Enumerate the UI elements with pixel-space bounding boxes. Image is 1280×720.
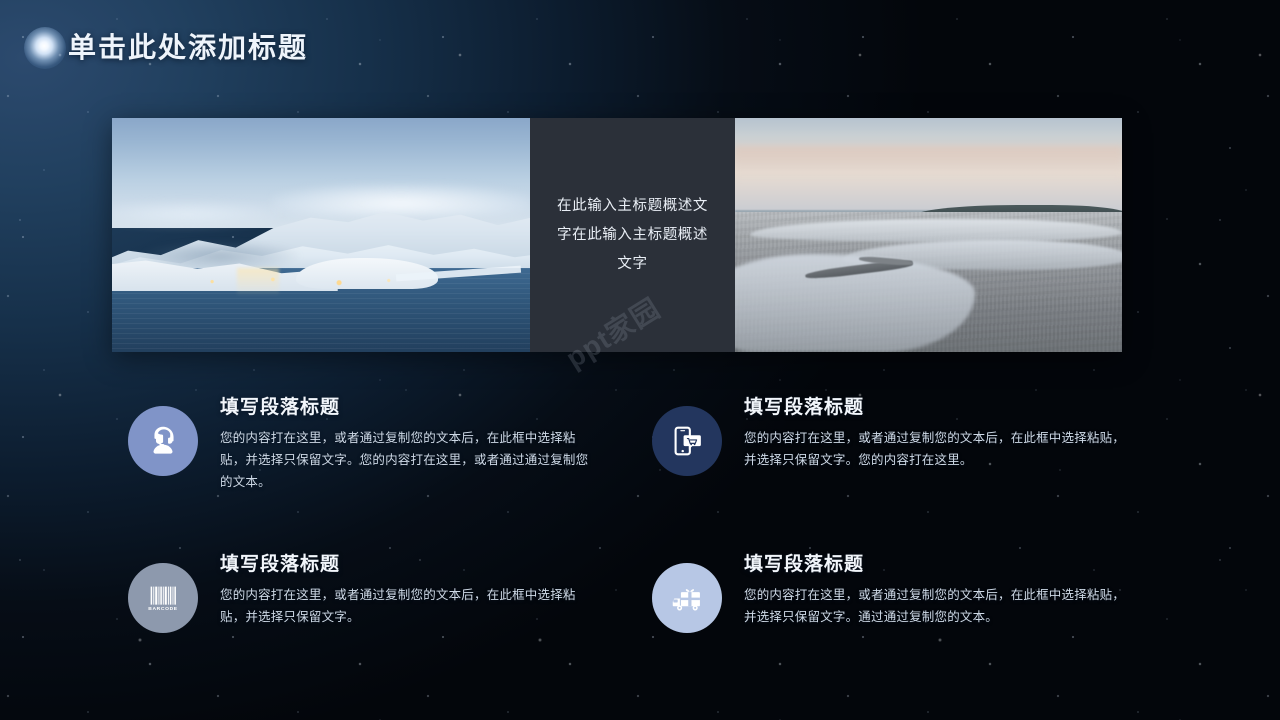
glowing-star-orb-icon	[24, 27, 66, 69]
feature-title: 填写段落标题	[744, 392, 1132, 419]
feature-title: 填写段落标题	[744, 549, 1132, 576]
hero-center-text: 在此输入主标题概述文字在此输入主标题概述文字	[553, 192, 713, 279]
hero-band: 在此输入主标题概述文字在此输入主标题概述文字	[112, 118, 1122, 352]
feature-text: 您的内容打在这里，或者通过复制您的文本后，在此框中选择粘贴，并选择只保留文字。您…	[220, 428, 600, 494]
feature-text: 您的内容打在这里，或者通过复制您的文本后，在此框中选择粘贴，并选择只保留文字。您…	[744, 428, 1132, 472]
slide-canvas: 单击此处添加标题 在此输入主标题概述文字在此输入主标题概述文字	[0, 0, 1280, 720]
svg-text:BARCODE: BARCODE	[148, 606, 178, 612]
snow-mountain-harbor-photo	[112, 118, 530, 352]
feature-item[interactable]: 填写段落标题 您的内容打在这里，或者通过复制您的文本后，在此框中选择粘贴，并选择…	[128, 392, 652, 549]
feature-item[interactable]: 填写段落标题 您的内容打在这里，或者通过复制您的文本后，在此框中选择粘贴，并选择…	[652, 392, 1138, 549]
feature-text: 您的内容打在这里，或者通过复制您的文本后，在此框中选择粘贴，并选择只保留文字。	[220, 585, 600, 629]
delivery-truck-gift-icon	[652, 563, 722, 633]
feature-text: 您的内容打在这里，或者通过复制您的文本后，在此框中选择粘贴，并选择只保留文字。通…	[744, 585, 1132, 629]
page-title: 单击此处添加标题	[68, 26, 308, 66]
barcode-icon: BARCODE	[128, 563, 198, 633]
feature-title: 填写段落标题	[220, 549, 600, 576]
hero-center-panel: 在此输入主标题概述文字在此输入主标题概述文字	[530, 118, 735, 352]
feature-item[interactable]: 填写段落标题 您的内容打在这里，或者通过复制您的文本后，在此框中选择粘贴，并选择…	[652, 549, 1138, 633]
mobile-shopping-cart-icon	[652, 406, 722, 476]
beach-mudflat-photo	[735, 118, 1122, 352]
feature-title: 填写段落标题	[220, 392, 600, 419]
feature-item[interactable]: BARCODE 填写段落标题 您的内容打在这里，或者通过复制您的文本后，在此框中…	[128, 549, 652, 633]
feature-grid: 填写段落标题 您的内容打在这里，或者通过复制您的文本后，在此框中选择粘贴，并选择…	[128, 392, 1138, 633]
customer-service-headset-icon	[128, 406, 198, 476]
